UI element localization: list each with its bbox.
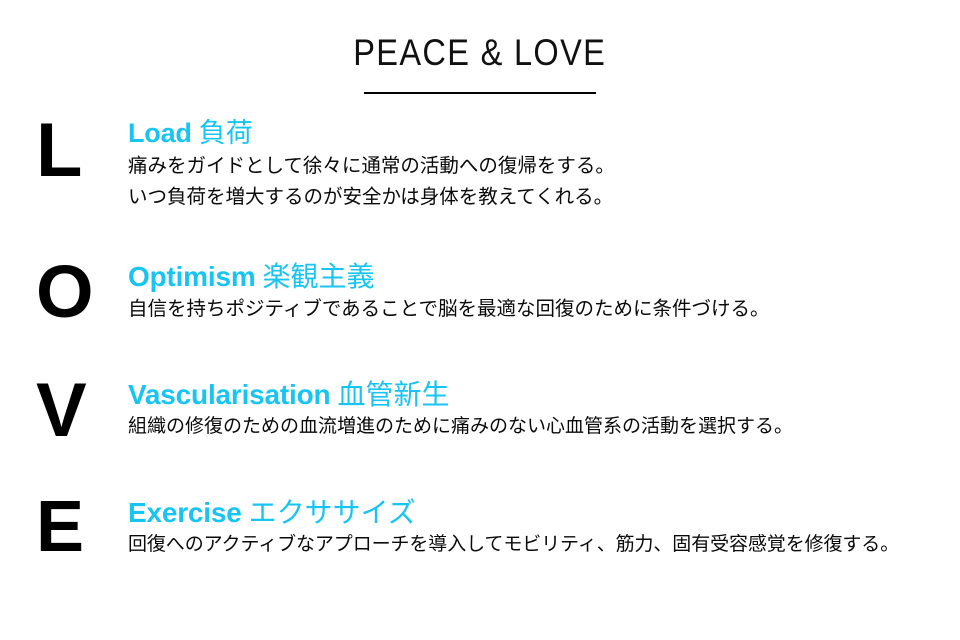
section-letter-l: L bbox=[36, 116, 128, 186]
heading-en-optimism: Optimism bbox=[128, 261, 256, 292]
section-heading-load: Load負荷 bbox=[128, 118, 960, 150]
title-divider bbox=[364, 92, 596, 94]
section-letter-o: O bbox=[36, 258, 128, 326]
section-letter-v: V bbox=[36, 376, 128, 446]
section-list: L Load負荷 痛みをガイドとして徐々に通常の活動への復帰をする。 いつ負荷を… bbox=[0, 116, 960, 561]
heading-ja-exercise: エクササイズ bbox=[249, 497, 416, 528]
section-line-exercise-1: 回復へのアクティブなアプローチを導入してモビリティ、筋力、固有受容感覚を修復する… bbox=[128, 530, 960, 561]
section-heading-vascularisation: Vascularisation血管新生 bbox=[128, 378, 960, 411]
section-optimism: O Optimism楽観主義 自信を持ちポジティブであることで脳を最適な回復のた… bbox=[0, 258, 960, 326]
section-letter-e: E bbox=[36, 494, 128, 560]
heading-ja-optimism: 楽観主義 bbox=[263, 261, 375, 292]
section-line-optimism-1: 自信を持ちポジティブであることで脳を最適な回復のために条件づける。 bbox=[128, 294, 960, 326]
heading-en-vascularisation: Vascularisation bbox=[128, 379, 330, 410]
section-body-exercise: Exerciseエクササイズ 回復へのアクティブなアプローチを導入してモビリティ… bbox=[128, 494, 960, 561]
section-vascularisation: V Vascularisation血管新生 組織の修復のための血流増進のために痛… bbox=[0, 376, 960, 446]
page-title: PEACE & LOVE bbox=[354, 34, 607, 71]
section-line-vascularisation-1: 組織の修復のための血流増進のために痛みのない心血管系の活動を選択する。 bbox=[128, 412, 960, 443]
section-line-load-2: いつ負荷を増大するのが安全かは身体を教えてくれる。 bbox=[128, 182, 960, 214]
title-block: PEACE & LOVE bbox=[0, 0, 960, 94]
heading-en-load: Load bbox=[128, 118, 192, 148]
heading-ja-load: 負荷 bbox=[199, 118, 253, 148]
section-body-optimism: Optimism楽観主義 自信を持ちポジティブであることで脳を最適な回復のために… bbox=[128, 258, 960, 326]
section-body-vascularisation: Vascularisation血管新生 組織の修復のための血流増進のために痛みの… bbox=[128, 376, 960, 443]
section-load: L Load負荷 痛みをガイドとして徐々に通常の活動への復帰をする。 いつ負荷を… bbox=[0, 116, 960, 214]
peace-and-love-infographic: { "header": { "title": "PEACE & LOVE" },… bbox=[0, 0, 960, 640]
section-exercise: E Exerciseエクササイズ 回復へのアクティブなアプローチを導入してモビリ… bbox=[0, 494, 960, 561]
heading-en-exercise: Exercise bbox=[128, 497, 242, 528]
section-line-load-1: 痛みをガイドとして徐々に通常の活動への復帰をする。 bbox=[128, 151, 960, 183]
section-heading-exercise: Exerciseエクササイズ bbox=[128, 496, 960, 529]
section-body-load: Load負荷 痛みをガイドとして徐々に通常の活動への復帰をする。 いつ負荷を増大… bbox=[128, 116, 960, 214]
section-heading-optimism: Optimism楽観主義 bbox=[128, 260, 960, 293]
heading-ja-vascularisation: 血管新生 bbox=[337, 379, 449, 410]
